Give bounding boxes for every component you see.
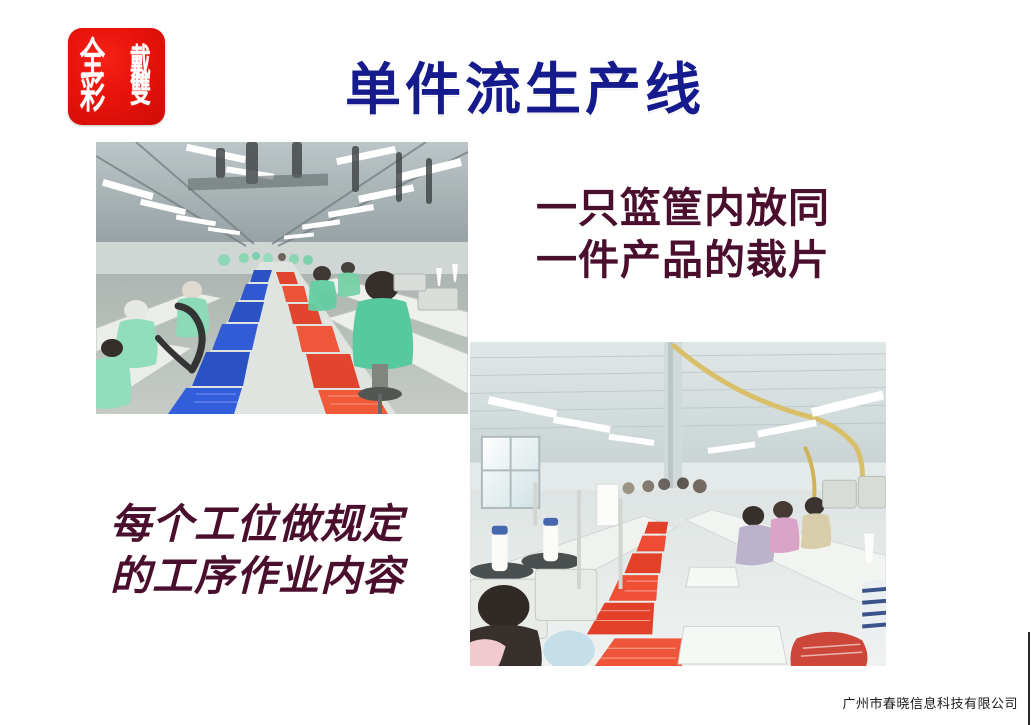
footer-company-name: 广州市春晓信息科技有限公司 — [842, 693, 1018, 712]
page-title: 单件流生产线 — [300, 45, 750, 126]
seal-char-cai: 彩 — [80, 73, 105, 114]
seal-char-shuang: 雙 — [130, 73, 151, 107]
company-seal-logo: 全 彩 戴 雙 — [68, 28, 165, 125]
photo-production-line-baskets — [96, 142, 468, 414]
right-edge-divider — [1028, 632, 1030, 725]
slide-canvas: 全 彩 戴 雙 单件流生产线 — [0, 0, 1036, 725]
photo-1-artwork — [96, 142, 468, 414]
photo-workshop-red-baskets — [468, 340, 888, 668]
seal-inner: 全 彩 戴 雙 — [68, 28, 165, 125]
caption-station-text: 每个工位做规定 的工序作业内容 — [110, 498, 404, 603]
seal-column-right: 戴 雙 — [117, 28, 166, 125]
seal-column-left: 全 彩 — [68, 28, 117, 125]
photo-2-artwork — [470, 342, 886, 666]
caption-basket-text: 一只篮筐内放同 一件产品的裁片 — [536, 182, 830, 287]
